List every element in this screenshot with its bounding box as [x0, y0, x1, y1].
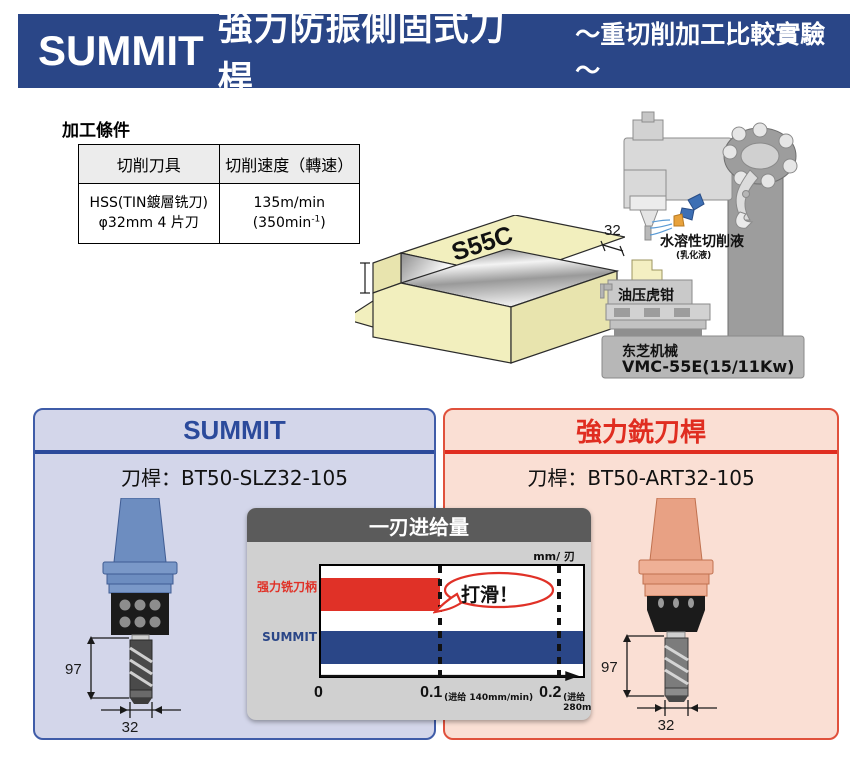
x-tick-label-1: 0.1: [420, 684, 442, 702]
conditions-heading: 加工條件: [62, 116, 130, 141]
table-header-row: 切削刀具 切削速度（轉速）: [79, 145, 360, 184]
bt50-taper-strong: [650, 498, 702, 560]
dim-length-summit-value: 97: [65, 661, 82, 678]
cutting-tool: [640, 210, 658, 226]
tool-line-2: φ32mm 4 片刀: [81, 213, 217, 233]
workpiece-height-value: 32: [355, 270, 356, 287]
x-tick-note-1: (进给 140mm/min): [444, 690, 533, 703]
dim-length-summit: [87, 636, 129, 700]
tool-line-1: HSS(TIN鍍層铣刀): [81, 193, 217, 213]
panel-strong-mill-title: 強力銑刀桿: [445, 410, 837, 454]
speed-line-2: (350min-1): [222, 213, 358, 233]
end-mill-summit: [130, 640, 152, 704]
machine-model-label: VMC-55E(15/11Kw): [622, 357, 794, 376]
spindle-top-box: [633, 120, 663, 140]
conditions-table: 切削刀具 切削速度（轉速） HSS(TIN鍍層铣刀) φ32mm 4 片刀 13…: [78, 144, 360, 244]
bar-strong-mill: [321, 578, 440, 611]
coolant-sublabel: (乳化液): [676, 249, 711, 261]
x-tick-label-0: 0: [314, 684, 323, 702]
page-title: 強力防振側固式刀桿: [218, 0, 542, 102]
panel-strong-mill-holder-label: 刀桿：BT50-ART32-105: [445, 462, 837, 491]
bt50-taper-summit: [114, 498, 166, 562]
dim-diameter-summit: [101, 702, 181, 718]
chart-unit-label: mm/ 刃: [533, 548, 575, 564]
series-label-strong-mill: 强力铣刀柄: [251, 578, 317, 595]
annotation-text: 打滑！: [461, 580, 518, 607]
end-mill-strong: [665, 638, 688, 702]
column-header-tool: 切削刀具: [79, 145, 220, 184]
header-subtitle: ～重切削加工比較實驗～: [575, 15, 850, 87]
column-header-speed: 切削速度（轉速）: [219, 145, 360, 184]
coolant-label: 水溶性切削液: [660, 233, 745, 250]
speed-line-1: 135m/min: [222, 193, 358, 213]
spindle-nose: [630, 196, 666, 210]
vise-label: 油压虎钳: [618, 287, 674, 304]
panel-summit-holder-label: 刀桿：BT50-SLZ32-105: [35, 462, 434, 491]
dim-diameter-strong-value: 32: [658, 717, 675, 734]
cell-tool: HSS(TIN鍍層铣刀) φ32mm 4 片刀: [79, 184, 220, 244]
cell-speed: 135m/min (350min-1): [219, 184, 360, 244]
speed-prefix: (350min: [253, 215, 312, 231]
feed-per-tooth-chart: 一刃进给量 mm/ 刃 强力铣刀柄 SUMMIT 打滑！ 0 0.1 (进给 1…: [247, 508, 591, 720]
table-row: HSS(TIN鍍層铣刀) φ32mm 4 片刀 135m/min (350min…: [79, 184, 360, 244]
speed-suffix: ): [320, 215, 325, 231]
dim-diameter-strong: [637, 700, 717, 716]
dim-length-strong-value: 97: [601, 659, 618, 676]
workpiece-height-dimension: [360, 263, 370, 293]
tool-changer-carousel: [723, 123, 797, 188]
coolant-spray: [650, 220, 672, 235]
bar-summit: [321, 631, 583, 664]
series-label-summit: SUMMIT: [251, 630, 317, 644]
x-tick-note-2: (进给 280mm/min): [563, 690, 591, 713]
dim-diameter-summit-value: 32: [122, 719, 139, 736]
dim-length-strong: [623, 634, 664, 698]
speed-exponent: -1: [311, 215, 320, 225]
header-brand: SUMMIT: [38, 27, 204, 75]
holder-body-strong: [647, 596, 705, 632]
panel-summit-title: SUMMIT: [35, 410, 434, 454]
holder-body-summit: [111, 593, 169, 635]
workpiece-diagram: S55C 32 32: [355, 215, 625, 385]
chart-title: 一刃进给量: [247, 508, 591, 542]
chart-plot-area: 打滑！: [319, 564, 585, 678]
page-header: SUMMIT 強力防振側固式刀桿 ～重切削加工比較實驗～: [18, 14, 850, 88]
x-axis-arrow: [321, 671, 583, 685]
x-tick-label-2: 0.2: [539, 684, 561, 702]
machine-illustration: 水溶性切削液 (乳化液) 油压虎钳 东芝机械 VMC-55E(15/11Kw): [600, 108, 868, 386]
poster-root: SUMMIT 強力防振側固式刀桿 ～重切削加工比較實驗～ 加工條件 切削刀具 切…: [0, 0, 868, 758]
